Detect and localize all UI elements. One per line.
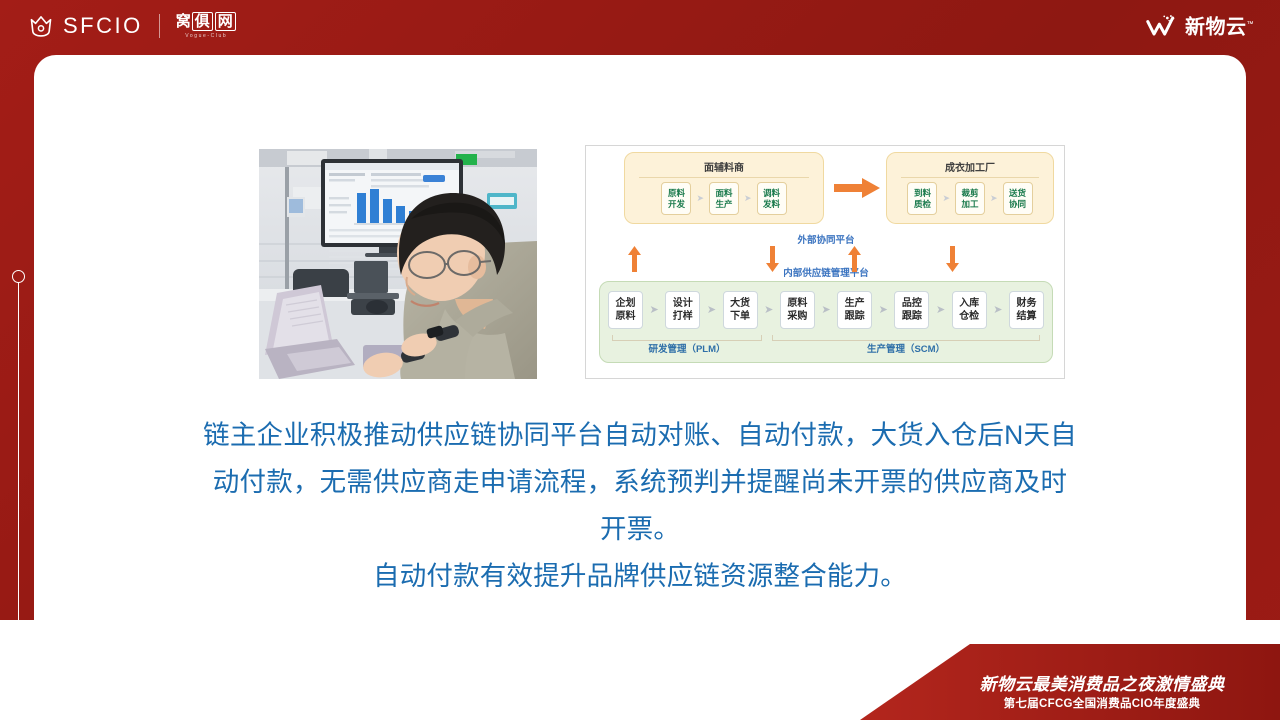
header-bar: SFCIO 窝 俱 网 Vogue-Club 新物云™ — [0, 0, 1280, 56]
xinwuyun-wordmark: 新物云™ — [1185, 13, 1254, 40]
footer-ribbon: 新物云最美消费品之夜激情盛典 第七届CFCG全国消费品CIO年度盛典 — [860, 644, 1280, 720]
cell-line-1: 裁剪 — [961, 188, 978, 199]
chain-step: 财务 结算 — [1009, 291, 1044, 329]
cell-line-1: 到料 — [914, 188, 931, 199]
cell-line-2: 加工 — [961, 199, 978, 210]
cell-line-1: 生产 — [845, 297, 865, 310]
cell-line-2: 结算 — [1016, 310, 1036, 323]
external-platform-label: 外部协同平台 — [771, 232, 881, 246]
event-subtitle: 第七届CFCG全国消费品CIO年度盛典 — [952, 696, 1252, 712]
photo-office-worker — [259, 149, 537, 379]
group-garment-factory: 成衣加工厂 到料 质检 ➤ 裁剪 加工 ➤ 送货 协同 — [886, 152, 1054, 224]
cell-line-2: 原料 — [616, 310, 636, 323]
chain-step: 企划 原料 — [608, 291, 643, 329]
cell-line-1: 面料 — [715, 188, 732, 199]
plm-label: 研发管理（PLM） — [612, 341, 762, 355]
internal-platform-box: 企划 原料 ➤ 设计 打样 ➤ 大货 下单 ➤ 原料 — [599, 281, 1053, 363]
cell-line-2: 下单 — [730, 310, 750, 323]
process-cell: 调料 发料 — [757, 182, 787, 215]
cell-line-1: 财务 — [1016, 297, 1036, 310]
process-cell: 裁剪 加工 — [955, 182, 985, 215]
supply-chain-diagram: 面辅料商 原料 开发 ➤ 面料 生产 ➤ 调料 发料 — [585, 145, 1065, 379]
chain-step: 入库 仓检 — [952, 291, 987, 329]
arrow-up-icon — [628, 246, 641, 272]
arrow-up-icon — [848, 246, 861, 272]
arrow-right-icon: ➤ — [879, 305, 888, 316]
xinwuyun-logo[interactable]: 新物云™ — [1146, 13, 1254, 40]
crown-icon — [28, 13, 54, 39]
chain-step: 设计 打样 — [665, 291, 700, 329]
photo-illustration — [259, 149, 537, 379]
cell-line-1: 入库 — [959, 297, 979, 310]
process-cell: 送货 协同 — [1003, 182, 1033, 215]
cell-line-2: 协同 — [1009, 199, 1026, 210]
arrow-right-icon: ➤ — [744, 194, 752, 203]
cell-line-1: 送货 — [1009, 188, 1026, 199]
cell-line-1: 大货 — [730, 297, 750, 310]
cell-line-2: 采购 — [787, 310, 807, 323]
slide-root: SFCIO 窝 俱 网 Vogue-Club 新物云™ — [0, 0, 1280, 720]
cell-line-2: 跟踪 — [845, 310, 865, 323]
cell-line-2: 跟踪 — [902, 310, 922, 323]
arrow-down-icon — [766, 246, 779, 272]
xinwuyun-brand: 新物云 — [1185, 17, 1247, 39]
cell-line-2: 质检 — [914, 199, 931, 210]
wo-char-3: 网 — [215, 12, 236, 31]
cell-line-1: 原料 — [668, 188, 685, 199]
arrow-right-icon: ➤ — [993, 305, 1002, 316]
wo-char-2: 俱 — [192, 12, 213, 31]
process-cell: 原料 开发 — [661, 182, 691, 215]
chain-step: 生产 跟踪 — [837, 291, 872, 329]
w-mark-icon — [1146, 14, 1178, 38]
event-title: 新物云最美消费品之夜激情盛典 — [952, 674, 1252, 696]
logo-divider — [159, 14, 160, 38]
ribbon-text: 新物云最美消费品之夜激情盛典 第七届CFCG全国消费品CIO年度盛典 — [952, 674, 1252, 712]
chain-step: 品控 跟踪 — [894, 291, 929, 329]
group-divider — [901, 177, 1039, 178]
cell-line-1: 品控 — [902, 297, 922, 310]
group-title: 面辅料商 — [625, 159, 823, 174]
arrow-right-icon: ➤ — [942, 194, 950, 203]
process-cell: 到料 质检 — [907, 182, 937, 215]
trademark-symbol: ™ — [1247, 21, 1255, 28]
wo-char-1: 窝 — [176, 13, 191, 30]
scm-label: 生产管理（SCM） — [772, 341, 1040, 355]
wojuwang-subtitle: Vogue-Club — [185, 33, 227, 39]
cell-line-2: 开发 — [668, 199, 685, 210]
wojuwang-logo: 窝 俱 网 Vogue-Club — [176, 12, 237, 39]
arrow-right-icon: ➤ — [990, 194, 998, 203]
cell-line-2: 打样 — [673, 310, 693, 323]
group-fabric-supplier: 面辅料商 原料 开发 ➤ 面料 生产 ➤ 调料 发料 — [624, 152, 824, 224]
arrow-right-icon: ➤ — [696, 194, 704, 203]
chain-step: 大货 下单 — [723, 291, 758, 329]
body-paragraphs: 链主企业积极推动供应链协同平台自动对账、自动付款，大货入仓后N天自动付款，无需供… — [200, 412, 1080, 600]
panel-notch — [34, 600, 94, 646]
cell-line-1: 调料 — [763, 188, 780, 199]
arrow-down-icon — [946, 246, 959, 272]
cell-line-2: 发料 — [763, 199, 780, 210]
arrow-right-icon: ➤ — [821, 305, 830, 316]
paragraph-2: 自动付款有效提升品牌供应链资源整合能力。 — [200, 553, 1080, 600]
sfcio-wordmark: SFCIO — [63, 13, 143, 39]
arrow-right-icon: ➤ — [936, 305, 945, 316]
decorative-pin — [12, 270, 25, 283]
group-title: 成衣加工厂 — [887, 159, 1053, 174]
process-cell: 面料 生产 — [709, 182, 739, 215]
cell-line-2: 仓检 — [959, 310, 979, 323]
chain-step: 原料 采购 — [780, 291, 815, 329]
arrow-right-icon: ➤ — [707, 305, 716, 316]
group-divider — [639, 177, 809, 178]
arrow-right-icon: ➤ — [764, 305, 773, 316]
cell-line-1: 原料 — [787, 297, 807, 310]
pin-stem — [18, 282, 19, 627]
flow-arrow-right-icon — [834, 178, 880, 198]
paragraph-1: 链主企业积极推动供应链协同平台自动对账、自动付款，大货入仓后N天自动付款，无需供… — [200, 412, 1080, 553]
cell-line-1: 设计 — [673, 297, 693, 310]
cell-line-1: 企划 — [616, 297, 636, 310]
arrow-right-icon: ➤ — [650, 305, 659, 316]
cell-line-2: 生产 — [715, 199, 732, 210]
sfcio-logo[interactable]: SFCIO 窝 俱 网 Vogue-Club — [28, 12, 237, 39]
